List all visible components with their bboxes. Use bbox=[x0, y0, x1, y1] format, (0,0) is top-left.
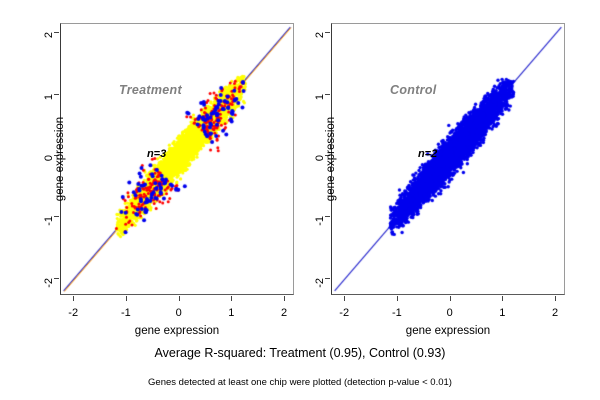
x-tick bbox=[397, 296, 398, 301]
y-tick-label: 2 bbox=[314, 32, 326, 38]
figure-caption-main: Average R-squared: Treatment (0.95), Con… bbox=[0, 346, 600, 360]
sample-size-label-treatment: n=3 bbox=[147, 148, 166, 160]
plot-panel-treatment: Treatment n=3 -2-1012-2-1012 gene expres… bbox=[60, 23, 294, 295]
x-tick bbox=[502, 296, 503, 301]
y-tick-label: -1 bbox=[314, 216, 326, 226]
y-tick-label: 1 bbox=[43, 94, 55, 100]
scatter-canvas-treatment bbox=[61, 24, 293, 294]
x-tick bbox=[344, 296, 345, 301]
y-tick-label: 0 bbox=[43, 155, 55, 161]
x-tick bbox=[555, 296, 556, 301]
x-tick-label: -2 bbox=[339, 307, 349, 319]
y-tick-label: 0 bbox=[314, 155, 326, 161]
figure-caption-sub: Genes detected at least one chip were pl… bbox=[0, 377, 600, 388]
x-tick bbox=[231, 296, 232, 301]
x-tick-label: 0 bbox=[176, 307, 182, 319]
x-tick-label: -1 bbox=[121, 307, 131, 319]
x-tick bbox=[284, 296, 285, 301]
x-tick-label: 1 bbox=[228, 307, 234, 319]
plot-frame-control: Control n=2 bbox=[331, 23, 565, 295]
y-tick-label: -2 bbox=[43, 278, 55, 288]
x-tick bbox=[179, 296, 180, 301]
y-axis-title-treatment: gene expression bbox=[54, 117, 66, 201]
y-axis-title-control: gene expression bbox=[325, 117, 337, 201]
y-tick-label: 2 bbox=[43, 32, 55, 38]
x-tick-label: 0 bbox=[447, 307, 453, 319]
panel-label-control: Control bbox=[390, 83, 437, 97]
x-tick-label: 2 bbox=[552, 307, 558, 319]
x-tick bbox=[73, 296, 74, 301]
y-tick-label: 1 bbox=[314, 94, 326, 100]
sample-size-label-control: n=2 bbox=[418, 148, 437, 160]
y-tick-label: -1 bbox=[43, 216, 55, 226]
x-tick-label: -1 bbox=[392, 307, 402, 319]
scatter-canvas-control bbox=[332, 24, 564, 294]
x-axis-title-treatment: gene expression bbox=[135, 325, 219, 337]
x-tick-label: 2 bbox=[281, 307, 287, 319]
panel-label-treatment: Treatment bbox=[119, 83, 182, 97]
plot-frame-treatment: Treatment n=3 bbox=[60, 23, 294, 295]
plot-panel-control: Control n=2 -2-1012-2-1012 gene expressi… bbox=[331, 23, 565, 295]
x-axis-title-control: gene expression bbox=[406, 325, 490, 337]
x-tick-label: 1 bbox=[499, 307, 505, 319]
y-tick-label: -2 bbox=[314, 278, 326, 288]
scatter-figure: Treatment n=3 -2-1012-2-1012 gene expres… bbox=[0, 0, 600, 400]
x-tick bbox=[126, 296, 127, 301]
x-tick bbox=[450, 296, 451, 301]
x-tick-label: -2 bbox=[68, 307, 78, 319]
